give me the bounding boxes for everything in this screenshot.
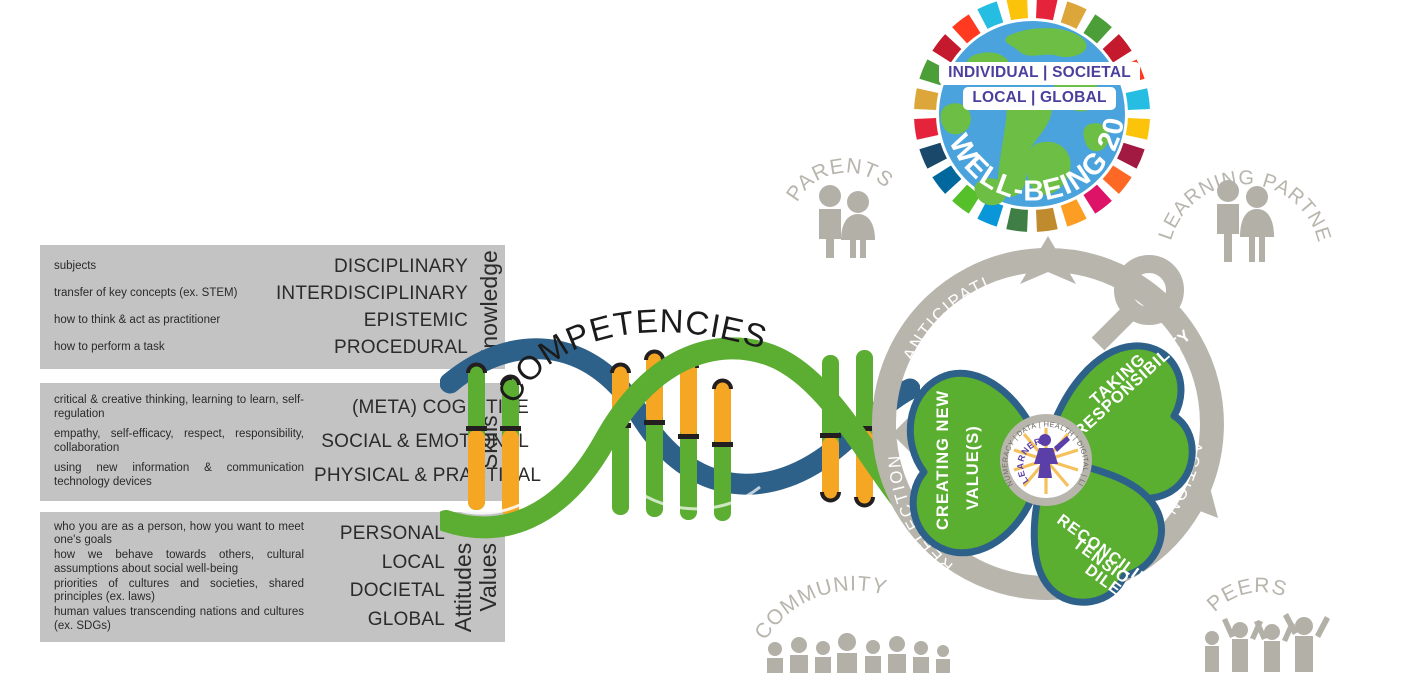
parents-figures-icon [819, 185, 875, 258]
panel-row: subjects DISCIPLINARY [54, 256, 468, 278]
wellbeing-globe: WELL-BEING 2030 [912, 0, 1152, 234]
row-term: EPISTEMIC [253, 310, 468, 332]
panel-row: using new information & communication te… [54, 462, 468, 489]
community-crowd-icon [767, 633, 950, 673]
stakeholder-community: COMMUNITY [755, 603, 975, 673]
row-term: DISCIPLINARY [253, 256, 468, 278]
panel-attitudes-values: who you are as a person, how you want to… [40, 512, 505, 642]
globe-banner: INDIVIDUAL | SOCIETAL LOCAL | GLOBAL [932, 62, 1147, 110]
row-description: subjects [54, 260, 96, 274]
partners-figures-icon [1217, 180, 1274, 262]
panel-attitudes-rows: who you are as a person, how you want to… [40, 512, 449, 642]
stakeholder-peers: PEERS [1186, 586, 1346, 672]
row-description: who you are as a person, how you want to… [54, 521, 304, 548]
dna-helix-graphic [440, 325, 920, 540]
peers-figures-icon [1205, 613, 1330, 672]
row-term: INTERDISCIPLINARY [253, 283, 468, 305]
panel-row: how we behave towards others, cultural a… [54, 549, 445, 576]
row-description: using new information & communication te… [54, 462, 304, 489]
panel-row: transfer of key concepts (ex. STEM) INTE… [54, 283, 468, 305]
panel-row: critical & creative thinking, learning t… [54, 394, 468, 421]
row-term: LOCAL [325, 552, 445, 574]
stakeholder-parents: PARENTS [786, 148, 906, 258]
row-description: how to think & act as practitioner [54, 314, 220, 328]
row-description: empathy, self-efficacy, respect, respons… [54, 428, 304, 455]
panel-knowledge: subjects DISCIPLINARY transfer of key co… [40, 245, 505, 369]
row-description: priorities of cultures and societies, sh… [54, 578, 304, 605]
leaf-label-line-1: CREATING NEW [934, 390, 952, 530]
panel-row: human values transcending nations and cu… [54, 606, 445, 633]
dna-rung-group-left [466, 365, 521, 517]
globe-banner-line-2: LOCAL | GLOBAL [963, 87, 1115, 110]
panel-row: how to think & act as practitioner EPIST… [54, 310, 468, 332]
diagram-canvas: subjects DISCIPLINARY transfer of key co… [0, 0, 1404, 672]
row-term: PROCEDURAL [253, 337, 468, 359]
axis-label-line-2: Values [476, 543, 501, 612]
panel-knowledge-rows: subjects DISCIPLINARY transfer of key co… [40, 245, 472, 369]
panel-row: priorities of cultures and societies, sh… [54, 578, 445, 605]
panel-skills-rows: critical & creative thinking, learning t… [40, 383, 472, 501]
panel-row: who you are as a person, how you want to… [54, 521, 445, 548]
learning-compass-cycle: ANTICIPATION ACTION REFLECTION CREATING … [862, 238, 1234, 630]
row-description: how we behave towards others, cultural a… [54, 549, 304, 576]
row-description: how to perform a task [54, 341, 165, 355]
leaf-label-line-2: VALUE(S) [964, 425, 982, 510]
panel-row: how to perform a task PROCEDURAL [54, 337, 468, 359]
stakeholder-learning-partners: LEARNING PARTNERS [1166, 135, 1326, 265]
globe-banner-line-1: INDIVIDUAL | SOCIETAL [939, 62, 1140, 85]
row-description: human values transcending nations and cu… [54, 606, 304, 633]
row-term: DOCIETAL [325, 580, 445, 602]
svg-text:COMMUNITY: COMMUNITY [750, 572, 889, 644]
row-description: transfer of key concepts (ex. STEM) [54, 287, 237, 301]
row-term: GLOBAL [325, 609, 445, 631]
row-description: critical & creative thinking, learning t… [54, 394, 304, 421]
row-term: PERSONAL [325, 523, 445, 545]
stakeholder-label: COMMUNITY [750, 572, 889, 644]
panel-row: empathy, self-efficacy, respect, respons… [54, 428, 468, 455]
panel-skills: critical & creative thinking, learning t… [40, 383, 505, 501]
